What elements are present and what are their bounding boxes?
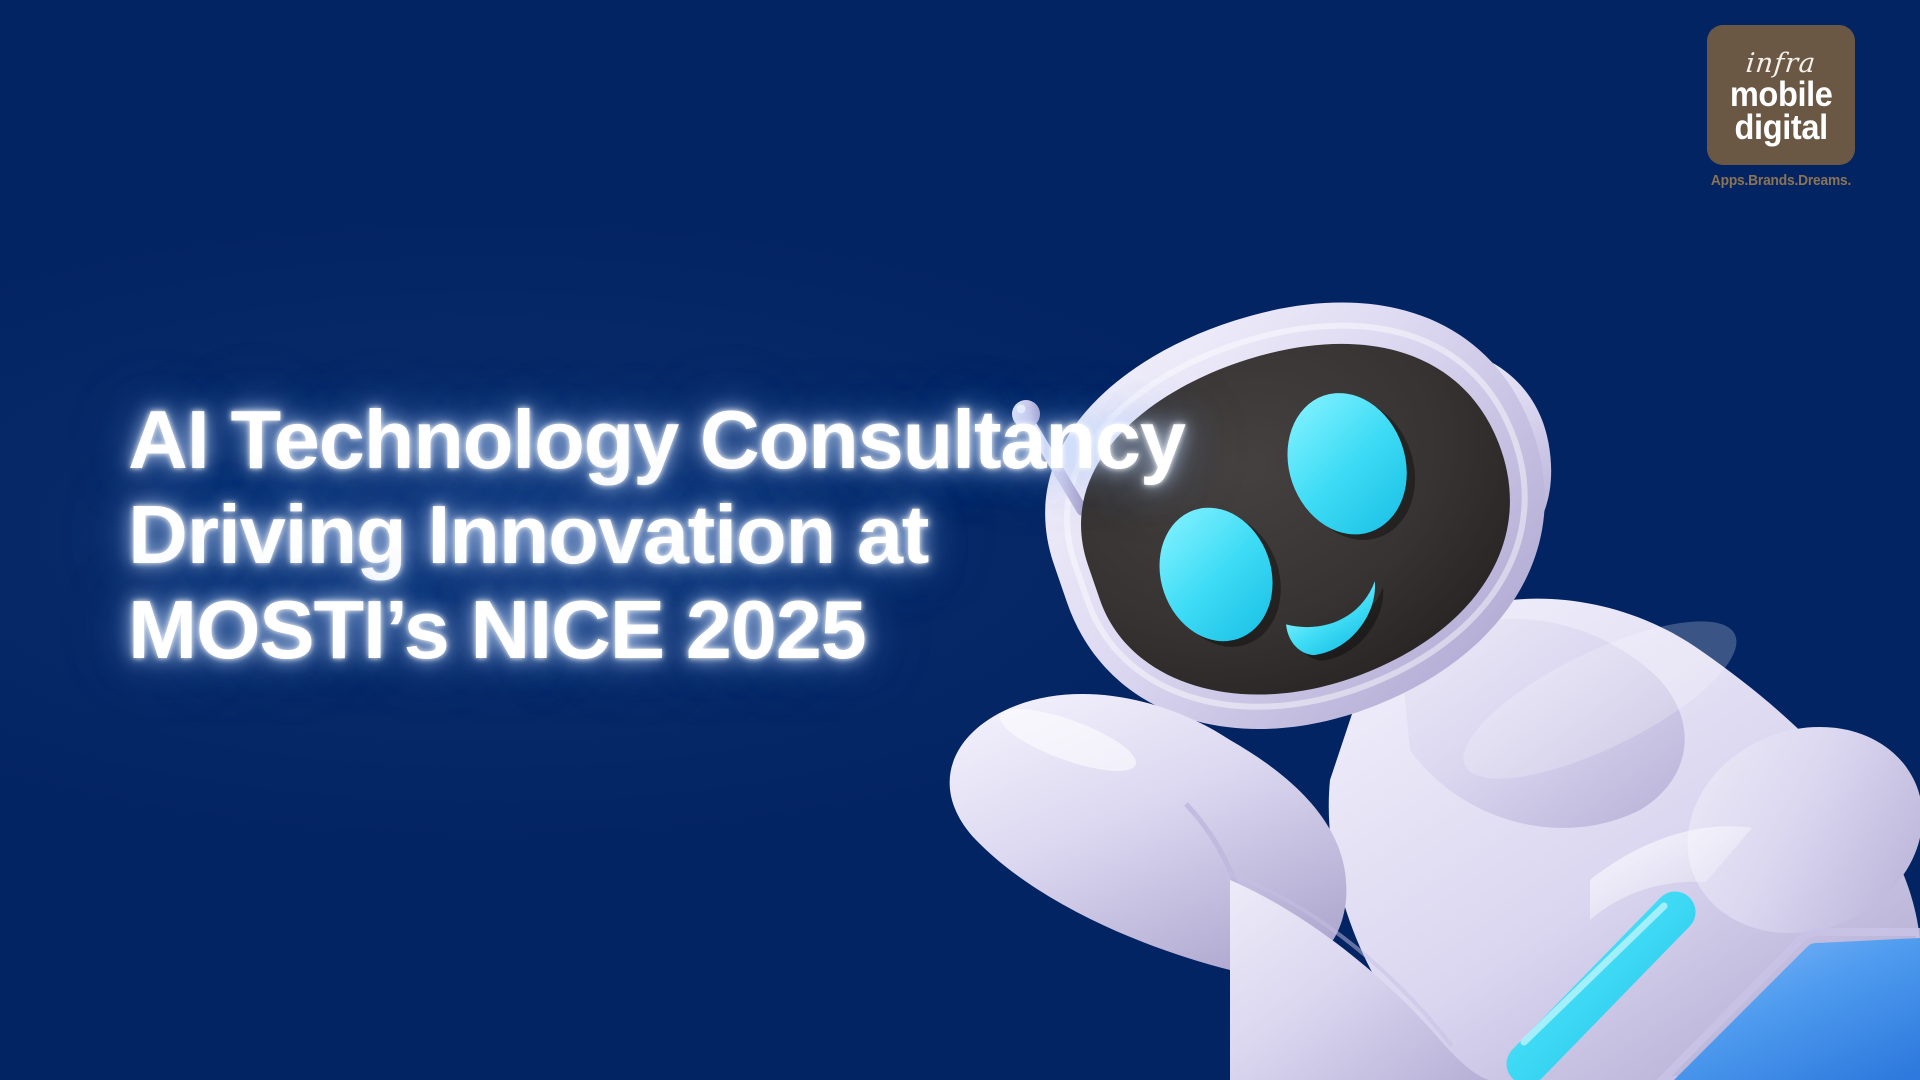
hero-banner: AI Technology Consultancy Driving Innova… [0, 0, 1920, 1080]
logo-word-digital: digital [1734, 112, 1827, 145]
headline-line-3: MOSTI’s NICE 2025 [128, 582, 1328, 677]
robot-waving-arm [950, 694, 1490, 1080]
brand-logo[interactable]: infra mobile digital Apps.Brands.Dreams. [1707, 25, 1855, 189]
robot-chest-panel [1506, 826, 1920, 1080]
headline-line-1: AI Technology Consultancy [128, 392, 1328, 487]
page-title: AI Technology Consultancy Driving Innova… [128, 392, 1328, 677]
logo-script-word: infra [1745, 50, 1818, 77]
robot-chest-light-bar [1506, 891, 1695, 1080]
robot-antenna-right [1353, 320, 1428, 515]
robot-torso [1329, 599, 1920, 1080]
logo-box[interactable]: infra mobile digital [1707, 25, 1855, 165]
robot-chest-screen [1662, 932, 1920, 1080]
logo-tagline: Apps.Brands.Dreams. [1711, 173, 1852, 189]
headline-line-2: Driving Innovation at [128, 487, 1328, 582]
robot-ear-flap [1361, 341, 1567, 590]
